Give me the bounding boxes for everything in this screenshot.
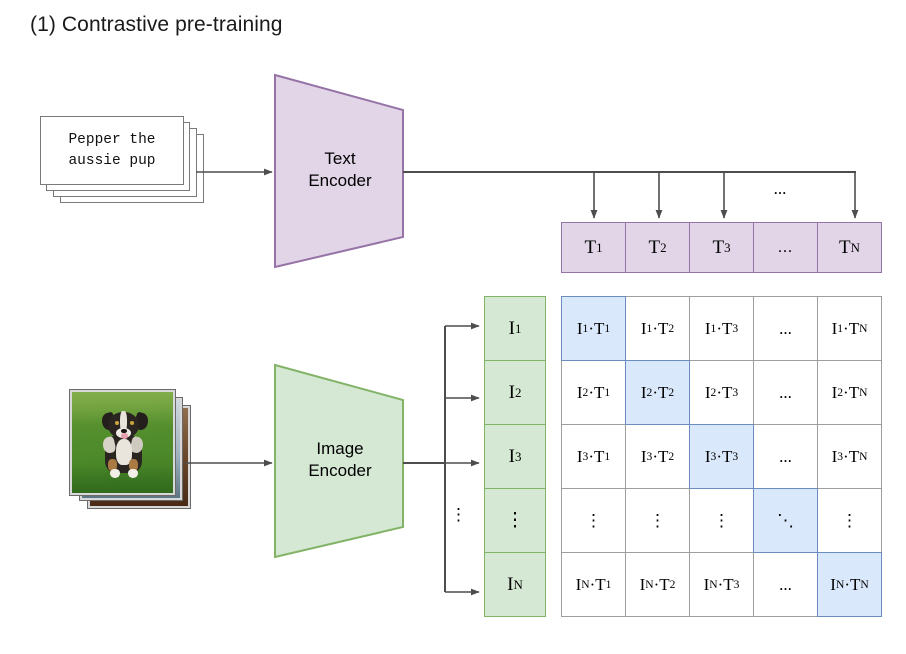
text-branch-ellipsis: ...: [760, 182, 800, 196]
text-card-front: [40, 116, 184, 185]
image-embedding-cell-1[interactable]: I1: [484, 296, 546, 361]
matrix-cell-1-N[interactable]: I1·TN: [817, 296, 882, 361]
text-embedding-cell-3[interactable]: T3: [689, 222, 754, 273]
matrix-cell-2-N[interactable]: I2·TN: [817, 360, 882, 425]
matrix-row: I2·T1I2·T2I2·T3...I2·TN: [561, 360, 882, 425]
image-embedding-cell-3[interactable]: I3: [484, 424, 546, 489]
matrix-cell-1-dots[interactable]: ...: [753, 296, 818, 361]
image-embedding-cell-N[interactable]: IN: [484, 552, 546, 617]
matrix-cell-1-1[interactable]: I1·T1: [561, 296, 626, 361]
matrix-cell-N-3[interactable]: IN·T3: [689, 552, 754, 617]
matrix-cell-3-dots[interactable]: ...: [753, 424, 818, 489]
image-branch-ellipsis: ⋮: [450, 512, 466, 517]
diagram-canvas: (1) Contrastive pre-training Pepper the …: [0, 0, 906, 654]
dog-eye-left: [115, 421, 119, 424]
matrix-cell-3-N[interactable]: I3·TN: [817, 424, 882, 489]
matrix-row: IN·T1IN·T2IN·T3...IN·TN: [561, 552, 882, 617]
matrix-cell-3-1[interactable]: I3·T1: [561, 424, 626, 489]
matrix-cell-3-2[interactable]: I3·T2: [625, 424, 690, 489]
dog-nose: [121, 429, 127, 433]
matrix-cell-2-dots[interactable]: ...: [753, 360, 818, 425]
matrix-cell-N-1[interactable]: IN·T1: [561, 552, 626, 617]
photo-stack-front-dog-image: [70, 390, 175, 495]
matrix-cell-1-3[interactable]: I1·T3: [689, 296, 754, 361]
matrix-row: ⋮⋮⋮⋱⋮: [561, 488, 882, 553]
matrix-cell-1-2[interactable]: I1·T2: [625, 296, 690, 361]
image-embedding-column: I1I2I3⋮IN: [484, 296, 546, 617]
text-embedding-cell-2[interactable]: T2: [625, 222, 690, 273]
text-embedding-cell-1[interactable]: T1: [561, 222, 626, 273]
matrix-cell-dots-2[interactable]: ⋮: [625, 488, 690, 553]
matrix-cell-2-1[interactable]: I2·T1: [561, 360, 626, 425]
matrix-cell-3-3[interactable]: I3·T3: [689, 424, 754, 489]
dog-paw-right: [128, 469, 138, 478]
image-embedding-cell-ellipsis[interactable]: ⋮: [484, 488, 546, 553]
image-embedding-cell-2[interactable]: I2: [484, 360, 546, 425]
matrix-cell-2-3[interactable]: I2·T3: [689, 360, 754, 425]
text-embedding-row: T1T2T3...TN: [561, 222, 882, 273]
matrix-row: I3·T1I3·T2I3·T3...I3·TN: [561, 424, 882, 489]
matrix-cell-N-dots[interactable]: ...: [753, 552, 818, 617]
matrix-cell-dots-N[interactable]: ⋮: [817, 488, 882, 553]
matrix-cell-2-2[interactable]: I2·T2: [625, 360, 690, 425]
matrix-cell-N-2[interactable]: IN·T2: [625, 552, 690, 617]
matrix-cell-dots-dots[interactable]: ⋱: [753, 488, 818, 553]
matrix-row: I1·T1I1·T2I1·T3...I1·TN: [561, 296, 882, 361]
similarity-matrix: I1·T1I1·T2I1·T3...I1·TNI2·T1I2·T2I2·T3..…: [561, 296, 882, 617]
text-embedding-cell-N[interactable]: TN: [817, 222, 882, 273]
text-embedding-cell-ellipsis[interactable]: ...: [753, 222, 818, 273]
matrix-cell-N-N[interactable]: IN·TN: [817, 552, 882, 617]
matrix-cell-dots-3[interactable]: ⋮: [689, 488, 754, 553]
matrix-cell-dots-1[interactable]: ⋮: [561, 488, 626, 553]
dog-eye-right: [130, 421, 134, 424]
